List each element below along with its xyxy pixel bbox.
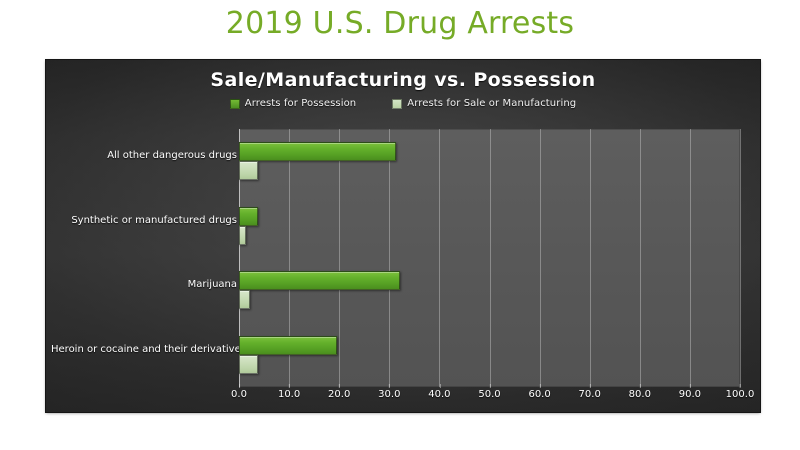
legend-swatch-sale-manufacturing xyxy=(392,99,402,109)
chart-legend: Arrests for Possession Arrests for Sale … xyxy=(46,98,760,109)
x-axis-tick-label: 60.0 xyxy=(528,389,550,400)
gridline xyxy=(540,129,541,387)
x-axis-tick-label: 100.0 xyxy=(726,389,755,400)
bar[interactable] xyxy=(239,207,258,226)
plot-area xyxy=(239,129,740,387)
x-axis-tick-label: 30.0 xyxy=(378,389,400,400)
x-axis-tick-label: 80.0 xyxy=(629,389,651,400)
x-axis-tick-mark xyxy=(540,384,541,388)
x-axis-tick-mark xyxy=(690,384,691,388)
gridline xyxy=(439,129,440,387)
x-axis-tick-mark xyxy=(590,384,591,388)
x-axis-tick-mark xyxy=(640,384,641,388)
legend-swatch-possession xyxy=(230,99,240,109)
category-label: Marijuana xyxy=(51,279,237,290)
legend-entry-sale-manufacturing[interactable]: Arrests for Sale or Manufacturing xyxy=(392,98,576,109)
gridline xyxy=(640,129,641,387)
bar[interactable] xyxy=(239,226,246,245)
legend-entry-possession[interactable]: Arrests for Possession xyxy=(230,98,357,109)
gridline xyxy=(339,129,340,387)
x-axis-tick-label: 90.0 xyxy=(679,389,701,400)
bar[interactable] xyxy=(239,142,396,161)
bar[interactable] xyxy=(239,290,250,309)
category-label: Synthetic or manufactured drugs xyxy=(51,215,237,226)
legend-label-sale-manufacturing: Arrests for Sale or Manufacturing xyxy=(407,98,576,109)
chart-title: Sale/Manufacturing vs. Possession xyxy=(46,69,760,91)
gridline xyxy=(690,129,691,387)
gridline xyxy=(740,129,741,387)
x-axis-tick-mark xyxy=(389,384,390,388)
x-axis-tick-label: 70.0 xyxy=(579,389,601,400)
x-axis-tick-mark xyxy=(339,384,340,388)
x-axis-tick-label: 50.0 xyxy=(478,389,500,400)
x-axis-tick-mark xyxy=(239,384,240,388)
gridline xyxy=(590,129,591,387)
bar[interactable] xyxy=(239,355,258,374)
x-axis-tick-mark xyxy=(489,384,490,388)
x-axis-tick-label: 20.0 xyxy=(328,389,350,400)
bar[interactable] xyxy=(239,161,258,180)
x-axis-tick-label: 40.0 xyxy=(428,389,450,400)
x-axis-tick-mark xyxy=(439,384,440,388)
chart-panel: Sale/Manufacturing vs. Possession Arrest… xyxy=(46,60,760,412)
category-label: Heroin or cocaine and their derivatives xyxy=(51,344,237,355)
bar[interactable] xyxy=(239,336,337,355)
x-axis-tick-label: 10.0 xyxy=(278,389,300,400)
bar[interactable] xyxy=(239,271,400,290)
gridline xyxy=(490,129,491,387)
category-axis-labels: All other dangerous drugsSynthetic or ma… xyxy=(46,129,237,387)
value-axis-ticks: 0.010.020.030.040.050.060.070.080.090.01… xyxy=(239,389,740,409)
legend-label-possession: Arrests for Possession xyxy=(245,98,357,109)
gridline xyxy=(389,129,390,387)
x-axis-tick-label: 0.0 xyxy=(231,389,247,400)
page-title: 2019 U.S. Drug Arrests xyxy=(0,6,800,41)
x-axis-tick-mark xyxy=(740,384,741,388)
x-axis-tick-mark xyxy=(289,384,290,388)
category-label: All other dangerous drugs xyxy=(51,150,237,161)
